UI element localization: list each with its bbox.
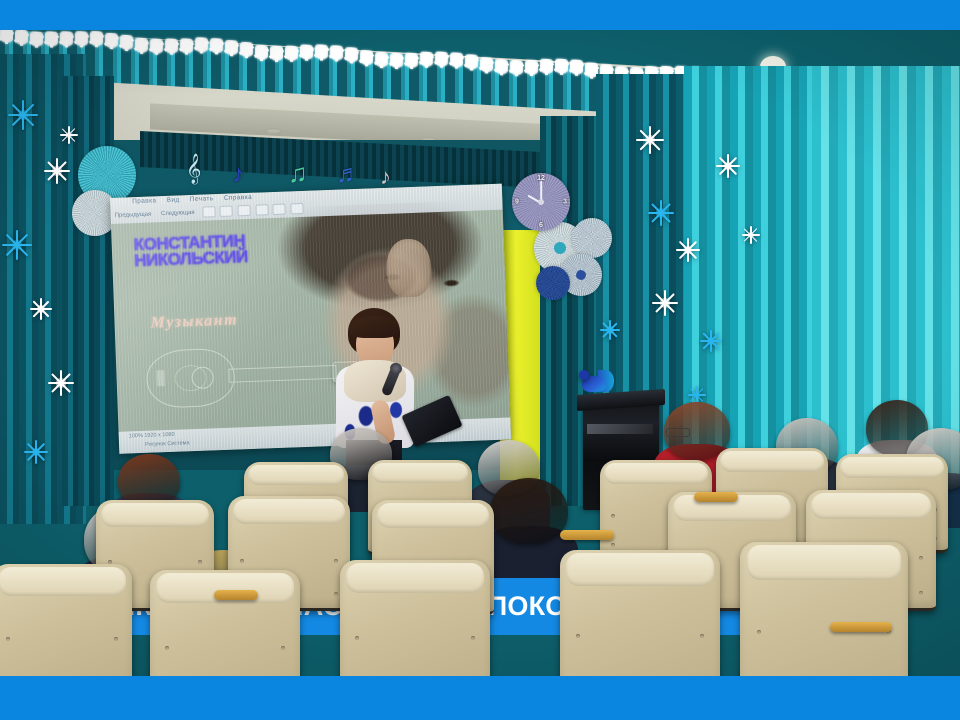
seat-stud xyxy=(919,591,923,595)
garland-snowflake xyxy=(180,38,193,56)
slideshow-icon[interactable] xyxy=(255,204,268,215)
seat-armrest xyxy=(560,530,614,540)
music-note-icon: ♫ xyxy=(288,160,308,186)
seat-stud xyxy=(240,559,244,563)
auditorium-seat xyxy=(150,570,300,676)
snowflake-ornament xyxy=(648,200,674,226)
seat-stud xyxy=(576,634,580,638)
seat-stud xyxy=(919,556,923,560)
seat-headrest xyxy=(101,503,210,527)
snowflake-ornament xyxy=(600,320,620,340)
garland-snowflake xyxy=(420,52,433,70)
snowflake-ornament xyxy=(44,158,70,184)
snowflake-ornament xyxy=(2,230,32,260)
snowflake-ornament xyxy=(716,154,740,178)
garland-snowflake xyxy=(270,45,283,63)
prev-button[interactable]: Предыдущая xyxy=(115,212,152,219)
audience-member-head xyxy=(490,478,568,544)
rotate-right-icon[interactable] xyxy=(290,203,303,214)
seat-stud xyxy=(6,637,10,641)
menu-item-view[interactable]: Вид xyxy=(167,196,180,203)
seat-headrest xyxy=(346,563,484,593)
seat-stud xyxy=(114,637,118,641)
piano-keyboard-sheen xyxy=(587,424,653,434)
snowflake-ornament xyxy=(30,298,52,320)
seat-headrest xyxy=(372,463,468,483)
seat-headrest xyxy=(811,493,931,519)
music-note-icon: ♪ xyxy=(380,166,391,188)
presenter-fringe xyxy=(350,316,398,338)
auditorium-seat xyxy=(340,560,490,676)
garland-snowflake xyxy=(510,60,523,78)
garland-snowflake xyxy=(210,38,223,56)
garland-snowflake xyxy=(525,59,538,77)
seat-stud xyxy=(700,634,704,638)
wall-clock: 12 3 6 9 xyxy=(512,173,570,231)
garland-snowflake xyxy=(570,60,583,78)
seat-stud xyxy=(281,646,285,650)
snowflake-ornament xyxy=(636,126,664,154)
seat-stud xyxy=(471,636,475,640)
garland-snowflake xyxy=(315,44,328,62)
seat-stud xyxy=(198,560,202,564)
image-frame: 𝄞 ♪ ♫ ♬ ♪ 12 3 6 9 xyxy=(0,0,960,720)
garland-snowflake xyxy=(135,37,148,55)
garland-snowflake xyxy=(330,45,343,63)
seat-stud xyxy=(334,559,338,563)
garland-snowflake xyxy=(240,42,253,60)
seat-headrest xyxy=(720,451,823,472)
seat-stud xyxy=(611,514,615,518)
seat-stud xyxy=(334,592,338,596)
snowflake-ornament xyxy=(676,238,700,262)
seat-stud xyxy=(165,646,169,650)
guitar-neck xyxy=(228,365,336,383)
clock-number-6: 6 xyxy=(539,222,543,229)
guitar-bridge xyxy=(156,370,165,386)
seat-headrest xyxy=(248,465,344,485)
status-right-text: Рисунок Система xyxy=(145,440,190,448)
seat-stud xyxy=(611,543,615,547)
fan-hub xyxy=(576,270,586,280)
slide-title: КОНСТАНТИН НИКОЛЬСКИЙ xyxy=(133,231,312,270)
paper-fan-rosette xyxy=(536,266,570,300)
garland-snowflake xyxy=(120,35,133,53)
garland-snowflake xyxy=(150,38,163,56)
snowflake-ornament xyxy=(700,330,722,352)
seat-stud xyxy=(355,636,359,640)
menu-item-help[interactable]: Справка xyxy=(224,194,253,202)
snowflake-ornament xyxy=(742,226,760,244)
snowflake-ornament xyxy=(24,440,48,464)
garland-snowflake xyxy=(435,51,448,69)
garland-snowflake xyxy=(45,31,58,49)
treble-clef-icon: 𝄞 xyxy=(186,155,201,181)
menu-item-print[interactable]: Печать xyxy=(190,195,214,203)
seat-headrest xyxy=(747,545,902,580)
clock-number-9: 9 xyxy=(515,199,519,206)
rotate-left-icon[interactable] xyxy=(273,204,286,215)
garland-snowflake xyxy=(360,50,373,68)
garland-snowflake xyxy=(105,32,118,50)
garland-snowflake xyxy=(90,31,103,49)
seat-headrest xyxy=(233,499,345,524)
peacock-head xyxy=(579,370,589,380)
seat-headrest xyxy=(840,457,943,478)
garland-snowflake xyxy=(540,59,553,77)
seat-headrest xyxy=(604,463,707,484)
garland-snowflake xyxy=(375,52,388,70)
garland-snowflake xyxy=(0,30,13,45)
snowflake-ornament xyxy=(652,290,678,316)
garland-snowflake xyxy=(555,59,568,77)
actual-size-icon[interactable] xyxy=(237,205,250,216)
garland-snowflake xyxy=(405,52,418,70)
auditorium-seat xyxy=(0,564,132,676)
garland-snowflake xyxy=(345,47,358,65)
snowflake-ornament xyxy=(48,370,74,396)
auditorium-seat xyxy=(560,550,720,676)
zoom-in-icon[interactable] xyxy=(202,206,215,217)
seat-armrest xyxy=(694,492,738,502)
garland-snowflake xyxy=(15,30,28,48)
seat-armrest xyxy=(830,622,892,632)
zoom-out-icon[interactable] xyxy=(220,206,233,217)
garland-snowflake xyxy=(30,31,43,49)
garland-snowflake xyxy=(60,31,73,49)
seat-headrest xyxy=(377,503,489,528)
clock-center-pin xyxy=(538,199,544,205)
seat-headrest xyxy=(566,553,713,586)
snowflake-ornament xyxy=(8,100,38,130)
seat-armrest xyxy=(214,590,258,600)
clock-number-3: 3 xyxy=(563,199,567,206)
music-note-icon: ♬ xyxy=(336,162,361,187)
status-left-text: 100% 1920 x 1080 xyxy=(129,432,175,440)
garland-snowflake xyxy=(465,54,478,72)
music-note-icon: ♪ xyxy=(232,162,245,187)
garland-snowflake xyxy=(255,44,268,62)
menu-item-edit[interactable]: Правка xyxy=(132,197,157,205)
fan-hub xyxy=(554,242,566,254)
garland-snowflake xyxy=(495,59,508,77)
slide-subtitle: Музыкант xyxy=(150,311,238,332)
eyeglasses-icon xyxy=(666,428,690,437)
paper-fan-rosette xyxy=(572,218,612,258)
garland-snowflake xyxy=(225,40,238,58)
garland-snowflake xyxy=(195,37,208,55)
next-button[interactable]: Следующая xyxy=(161,210,195,217)
seat-headrest xyxy=(0,567,126,596)
garland-snowflake xyxy=(450,52,463,70)
garland-snowflake xyxy=(165,38,178,56)
ceiling-lamp xyxy=(265,128,282,134)
garland-snowflake xyxy=(285,45,298,63)
garland-snowflake xyxy=(300,45,313,63)
portrait-hand xyxy=(386,238,432,298)
auditorium-seat xyxy=(740,542,908,676)
garland-snowflake xyxy=(480,57,493,75)
seat-stud xyxy=(757,630,761,634)
garland-snowflake xyxy=(390,52,403,70)
garland-snowflake xyxy=(75,30,88,48)
snowflake-ornament xyxy=(60,126,78,144)
event-photo: 𝄞 ♪ ♫ ♬ ♪ 12 3 6 9 xyxy=(0,30,960,676)
